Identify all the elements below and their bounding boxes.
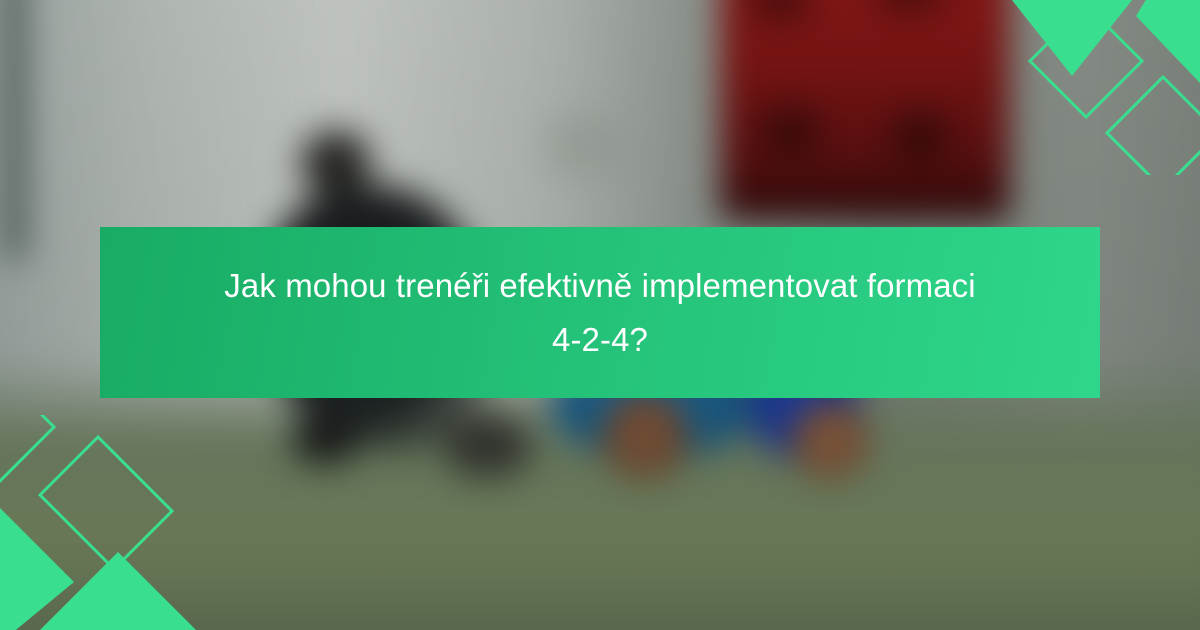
- share-card-canvas: Jak mohou trenéři efektivně implementova…: [0, 0, 1200, 630]
- page-title: Jak mohou trenéři efektivně implementova…: [165, 259, 1035, 366]
- headline-band: Jak mohou trenéři efektivně implementova…: [100, 227, 1100, 398]
